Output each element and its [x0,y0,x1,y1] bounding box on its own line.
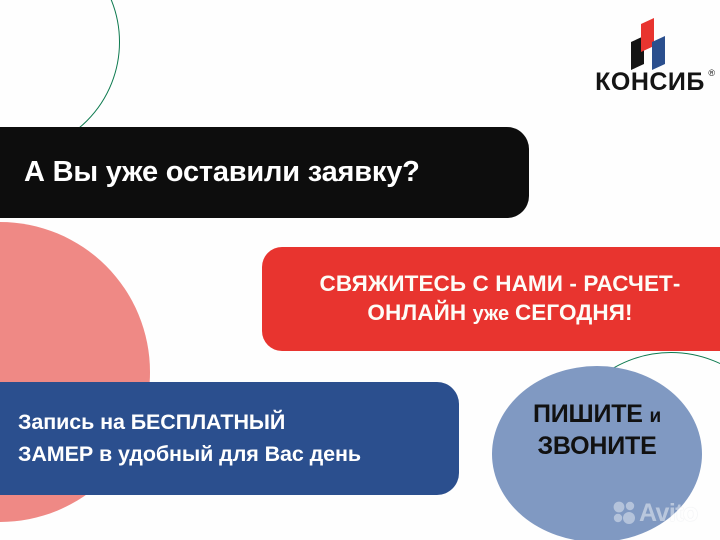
contact-banner: СВЯЖИТЕСЬ С НАМИ - РАСЧЕТ- ОНЛАЙН уже СЕ… [262,247,720,351]
contact-banner-line2-already: уже [473,303,515,325]
avito-watermark: Avito [612,500,698,526]
call-to-action-and: и [650,406,661,427]
avito-dots-icon [612,500,638,526]
contact-banner-line2: ОНЛАЙН уже СЕГОДНЯ! [367,299,632,328]
logo-mark-icon [588,18,712,70]
konsib-logo: КОНСИБ ® [588,18,712,102]
contact-banner-line2-online: ОНЛАЙН [367,300,472,325]
question-banner: А Вы уже оставили заявку? [0,127,529,218]
call-to-action-line2: ЗВОНИТЕ [492,430,702,462]
poster-canvas: КОНСИБ ® А Вы уже оставили заявку? СВЯЖИ… [0,0,720,540]
measurement-banner-line2: ЗАМЕР в удобный для Вас день [18,439,361,470]
measurement-banner-line1: Запись на БЕСПЛАТНЫЙ [18,407,285,438]
contact-banner-line1: СВЯЖИТЕСЬ С НАМИ - РАСЧЕТ- [319,270,680,299]
call-to-action-line1: ПИШИТЕ и [492,398,702,430]
avito-wordmark: Avito [639,501,698,526]
measurement-banner: Запись на БЕСПЛАТНЫЙ ЗАМЕР в удобный для… [0,382,459,495]
question-banner-text: А Вы уже оставили заявку? [24,157,420,187]
registered-trademark-icon: ® [708,68,715,78]
call-to-action-write: ПИШИТЕ [533,400,650,428]
call-to-action-text: ПИШИТЕ и ЗВОНИТЕ [492,398,702,462]
contact-banner-line2-today: СЕГОДНЯ! [515,300,633,325]
logo-wordmark: КОНСИБ [588,70,712,95]
